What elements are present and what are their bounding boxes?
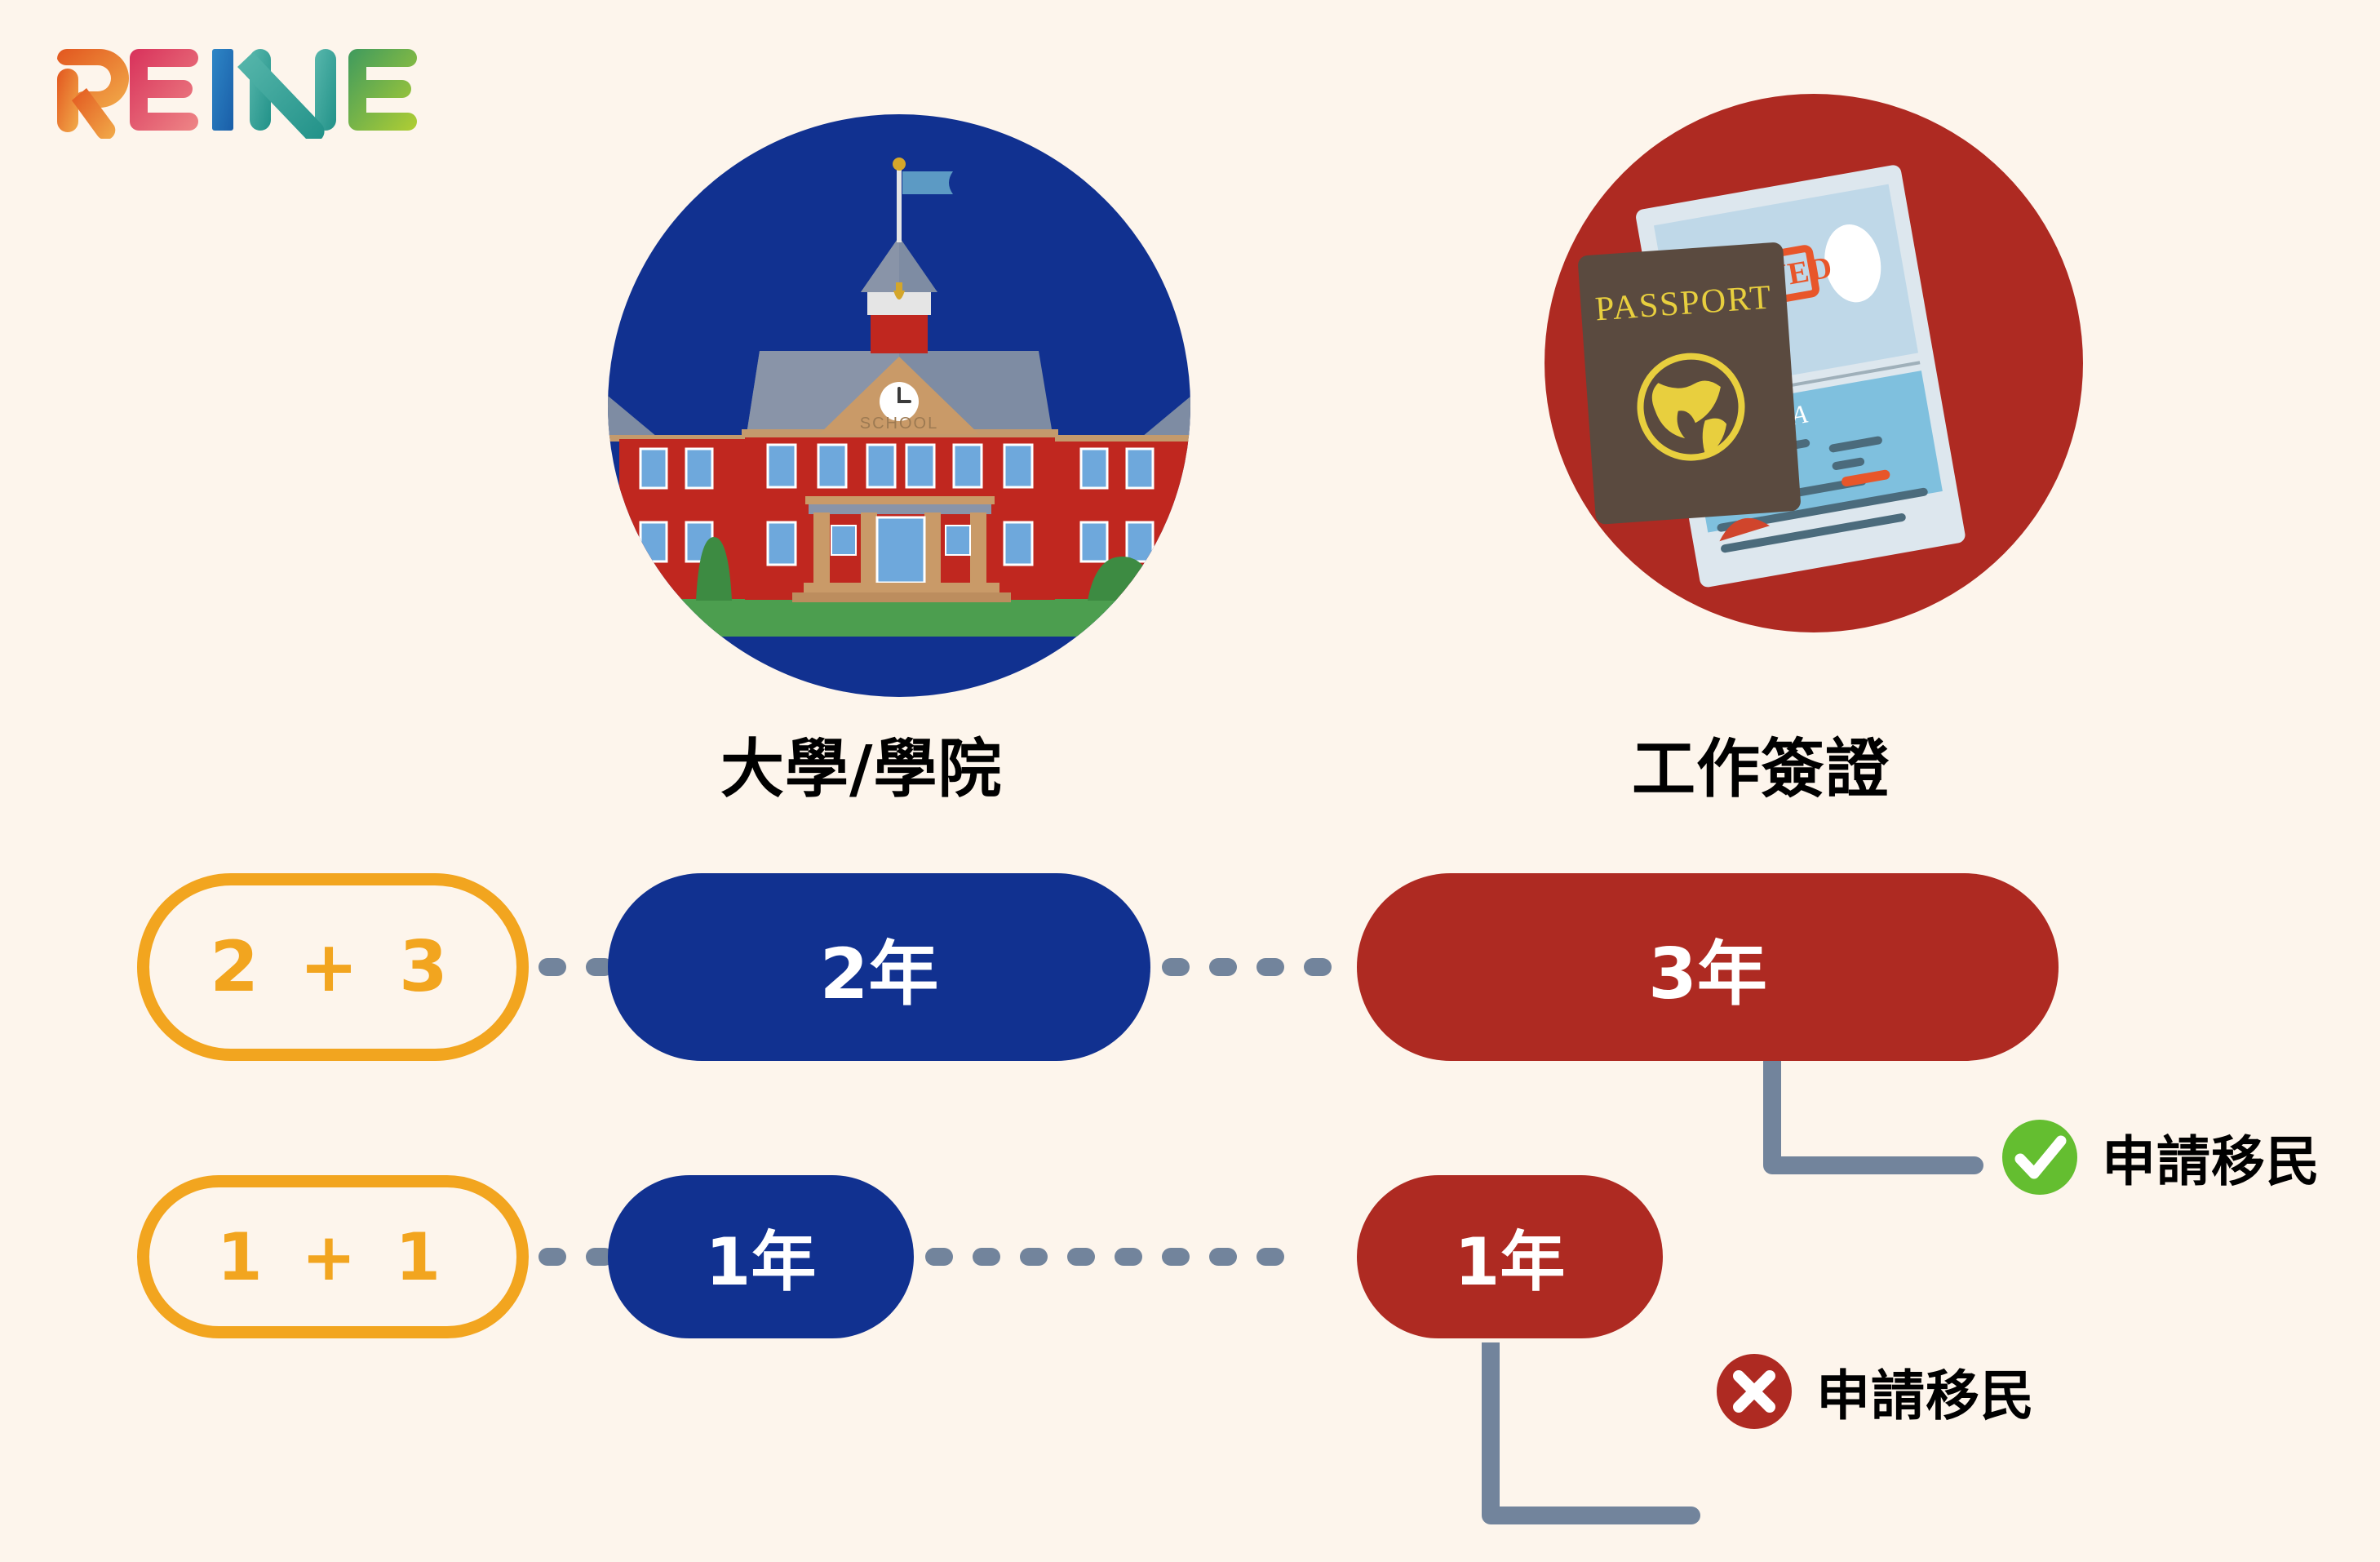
logo-letter-i (212, 49, 233, 131)
dash-segment (1209, 958, 1237, 976)
connector-elbow-denied (1481, 1342, 1726, 1538)
study-duration-badge[interactable]: 1年 (608, 1175, 914, 1338)
passport-visa-icon: APPROVED VISA PASSPORT (1528, 78, 2099, 649)
connector-dashes-work (925, 1248, 1284, 1266)
dash-segment (1020, 1248, 1048, 1266)
study-duration-label: 1年 (706, 1209, 817, 1304)
pathway-total-label: 1 + 1 (217, 1219, 449, 1295)
logo-letter-r (57, 49, 129, 139)
dash-segment (1067, 1248, 1095, 1266)
column-heading-visa: 工作簽證 (1632, 718, 1890, 810)
pathway-total-badge[interactable]: 2 + 3 (137, 873, 529, 1061)
pathway-row-2-3: 2 + 3 2年 3年 (0, 873, 2380, 1061)
dash-segment (925, 1248, 953, 1266)
dash-segment (1162, 958, 1190, 976)
dash-segment (1115, 1248, 1142, 1266)
svg-text:SCHOOL: SCHOOL (860, 415, 938, 433)
work-duration-label: 1年 (1455, 1209, 1566, 1304)
pathway-total-badge[interactable]: 1 + 1 (137, 1175, 529, 1338)
infographic-canvas: SCHOOL (0, 0, 2380, 1562)
work-duration-badge[interactable]: 1年 (1357, 1175, 1663, 1338)
dash-segment (1256, 1248, 1284, 1266)
column-heading-school: 大學/學院 (720, 718, 1003, 810)
study-duration-badge[interactable]: 2年 (608, 873, 1150, 1061)
outcome-denied: 申請移民 (1713, 1351, 2035, 1432)
connector-elbow-approved (1762, 1061, 2007, 1191)
dash-segment (1304, 958, 1332, 976)
connector-dashes-work (1162, 958, 1332, 976)
logo-letter-n (237, 49, 336, 139)
dash-segment (1209, 1248, 1237, 1266)
reine-logo (51, 33, 434, 139)
pathway-total-label: 2 + 3 (210, 926, 456, 1008)
dash-segment (1256, 958, 1284, 976)
dash-segment (1162, 1248, 1190, 1266)
pathway-row-1-1: 1 + 1 1年 1年 (0, 1175, 2380, 1338)
dash-segment (973, 1248, 1000, 1266)
connector-dashes-study (538, 1248, 614, 1266)
work-duration-label: 3年 (1648, 916, 1767, 1018)
work-duration-badge[interactable]: 3年 (1357, 873, 2059, 1061)
x-circle-icon (1713, 1351, 1795, 1432)
logo-letter-e2 (348, 49, 417, 131)
school-building-icon: SCHOOL (608, 114, 1191, 698)
dash-segment (538, 958, 566, 976)
study-duration-label: 2年 (820, 916, 939, 1018)
logo-letter-e1 (130, 49, 198, 131)
dash-segment (538, 1248, 566, 1266)
outcome-denied-label: 申請移民 (1816, 1352, 2035, 1431)
